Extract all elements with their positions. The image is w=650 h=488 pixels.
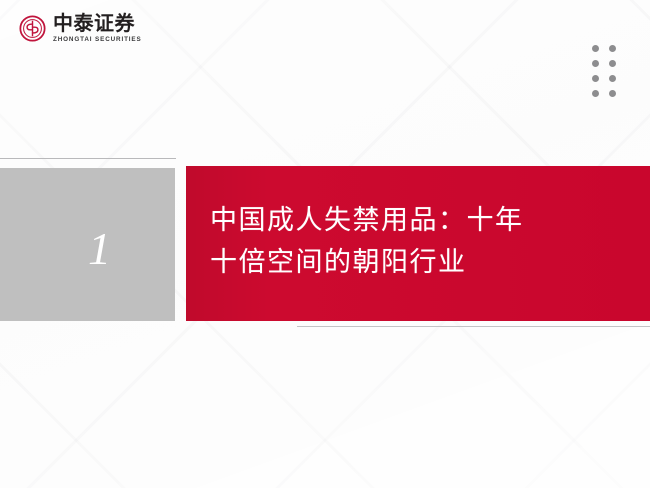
company-logo: 中泰证券 ZHONGTAI SECURITIES [19,14,140,43]
decor-dot [592,75,599,82]
section-number-block: 1 [0,168,175,321]
section-title-block: 中国成人失禁用品：十年 十倍空间的朝阳行业 [186,166,650,321]
bottom-divider-rule [297,326,650,327]
logo-company-name-en: ZHONGTAI SECURITIES [53,37,142,43]
decor-dot [609,90,616,97]
dot-grid-decoration [592,45,616,97]
decor-dot [609,75,616,82]
section-title: 中国成人失禁用品：十年 十倍空间的朝阳行业 [186,200,524,286]
decor-dot [592,45,599,52]
section-number: 1 [88,226,111,272]
presentation-slide: 中泰证券 ZHONGTAI SECURITIES 1 中国成人失禁用品：十年 十… [0,0,650,488]
zhongtai-circle-emblem-icon [19,15,46,42]
decor-dot [609,60,616,67]
top-divider-rule [0,158,176,159]
logo-company-name-cn: 中泰证券 [53,14,140,35]
decor-dot [592,60,599,67]
logo-wordmark: 中泰证券 ZHONGTAI SECURITIES [53,14,140,43]
decor-dot [609,45,616,52]
decor-dot [592,90,599,97]
